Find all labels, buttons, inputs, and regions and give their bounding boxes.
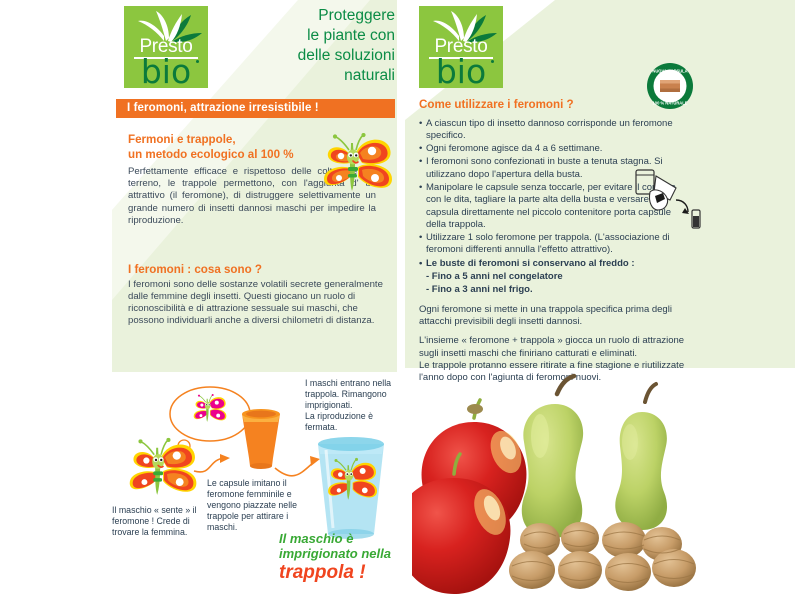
list-item: - Fino a 3 anni nel frigo. xyxy=(419,284,687,296)
diagram-caption-1: Il maschio « sente » il feromone ! Crede… xyxy=(112,505,207,538)
left-section-1-heading-line1: Fermoni e trappole, xyxy=(128,133,236,146)
logo-registered-dot xyxy=(196,60,199,63)
orange-trap-cup-icon xyxy=(242,409,280,469)
diagram-caption-3: I maschi entrano nella trappola. Rimango… xyxy=(305,378,405,433)
presto-bio-logo-right: Presto bio xyxy=(419,6,503,88)
bottom-slogan-green: Il maschio è imprigionato nella xyxy=(279,531,414,561)
presto-bio-logo-left: Presto bio xyxy=(124,6,208,88)
pear-back xyxy=(615,384,667,530)
left-section-2: I feromoni : cosa sono ? I feromoni sono… xyxy=(128,263,383,327)
poster-page: Presto bio Presto bio Proteggere le pian… xyxy=(0,0,800,600)
diagram-caption-2: Le capsule imitano il feromone femminile… xyxy=(207,478,312,533)
logo-registered-dot xyxy=(491,60,494,63)
left-section-2-heading: I feromoni : cosa sono ? xyxy=(128,263,383,278)
left-section-title-bar: I feromoni, attrazione irresistibile ! xyxy=(116,99,395,118)
pear-front xyxy=(522,376,583,538)
right-paragraph-2: L'insieme « feromone + trappola » giocca… xyxy=(419,335,687,360)
right-section-heading: Come utilizzare i feromoni ? xyxy=(419,98,687,113)
list-item: Le buste di feromoni si conservano al fr… xyxy=(419,258,687,270)
header-slogan: Proteggere le piante con delle soluzioni… xyxy=(255,6,395,86)
left-section-title-text: I feromoni, attrazione irresistibile ! xyxy=(116,99,395,118)
list-item: A ciascun tipo di insetto dannoso corris… xyxy=(419,118,687,143)
right-paragraph-1: Ogni feromone si mette in una trappola s… xyxy=(419,304,687,329)
left-section-2-body: I feromoni sono delle sostanze volatili … xyxy=(128,279,383,328)
right-section: Come utilizzare i feromoni ? A ciascun t… xyxy=(419,98,687,384)
list-item: - Fino a 5 anni nel congelatore xyxy=(419,271,687,283)
badge-top-text: NUOVA CAPSULA xyxy=(652,69,687,74)
butterfly-icon xyxy=(310,133,396,205)
bottom-slogan-orange: trappola ! xyxy=(279,562,414,584)
left-section-1-heading-line2: un metodo ecologico al 100 % xyxy=(128,148,294,161)
bottom-slogan: Il maschio è imprigionato nella trappola… xyxy=(279,531,414,584)
walnut-group xyxy=(509,522,696,591)
list-item: Ogni feromone agisce da 4 a 6 settimane. xyxy=(419,143,687,155)
fruit-photo xyxy=(412,372,710,598)
list-item: Utilizzare 1 solo feromone per trappola.… xyxy=(419,232,687,257)
capsule-handling-illustration-icon xyxy=(632,166,704,232)
